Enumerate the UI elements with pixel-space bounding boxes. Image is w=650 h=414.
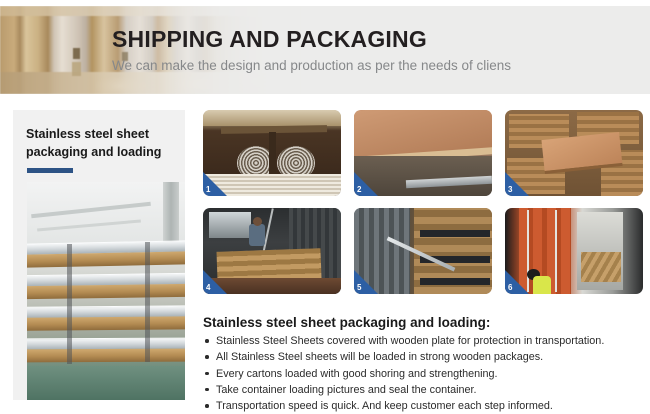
gallery-row: 4 5 6: [203, 208, 643, 294]
floor-decor: [0, 72, 300, 94]
list-item: Transportation speed is quick. And keep …: [203, 398, 643, 414]
list-item: All Stainless Steel sheets will be loade…: [203, 349, 643, 365]
thumb-number-label: 5: [357, 284, 361, 292]
strap-band: [145, 242, 150, 362]
rail-decor: [31, 202, 151, 219]
wooden-pallet: [27, 316, 185, 330]
steel-sheet-layer: [27, 273, 185, 299]
thumb-number-label: 2: [357, 186, 361, 194]
gallery-thumb-1[interactable]: 1: [203, 110, 341, 196]
page-header-banner: SHIPPING AND PACKAGING We can make the d…: [0, 6, 650, 94]
list-item: Take container loading pictures and seal…: [203, 382, 643, 398]
metal-plate: [27, 338, 185, 350]
gallery-thumb-6[interactable]: 6: [505, 208, 643, 294]
gallery-row: 1 2 3: [203, 110, 643, 196]
gallery-thumb-2[interactable]: 2: [354, 110, 492, 196]
strap-band-decor: [420, 278, 490, 285]
thumb-number-label: 1: [206, 186, 210, 194]
green-floor: [27, 366, 185, 400]
steel-sheet-layer: [27, 305, 185, 330]
strap-band: [67, 244, 72, 364]
wooden-pallet: [27, 251, 185, 268]
list-item: Stainless Steel Sheets covered with wood…: [203, 333, 643, 349]
safety-vest-icon: [533, 276, 551, 294]
wooden-pallet-decor: [217, 248, 322, 282]
worker-figure-icon: [249, 224, 265, 246]
page-subtitle: We can make the design and production as…: [112, 58, 511, 73]
wooden-pallet: [27, 349, 185, 363]
gallery-thumb-3[interactable]: 3: [505, 110, 643, 196]
info-bullet-list: Stainless Steel Sheets covered with wood…: [203, 333, 643, 414]
gallery-thumb-4[interactable]: 4: [203, 208, 341, 294]
door-locking-rod-decor: [555, 210, 557, 292]
info-heading: Stainless steel sheet packaging and load…: [203, 315, 643, 330]
thumb-number-label: 4: [206, 284, 210, 292]
steel-sheet-layer: [27, 240, 185, 268]
page-title: SHIPPING AND PACKAGING: [112, 26, 427, 53]
ceiling-decor: [0, 6, 300, 16]
worker-head-icon: [253, 217, 262, 226]
daylight-opening-decor: [209, 212, 251, 238]
packaging-photo-gallery: 1 2 3: [203, 110, 643, 306]
gallery-thumb-5[interactable]: 5: [354, 208, 492, 294]
accent-rule: [27, 168, 73, 173]
list-item: Every cartons loaded with good shoring a…: [203, 366, 643, 382]
rail-decor-secondary: [37, 219, 141, 231]
strap-band-decor: [420, 230, 490, 237]
wall-fixture-icon: [73, 48, 80, 59]
steel-sheet-stack-photo: [27, 182, 185, 400]
door-locking-rod-decor: [527, 210, 529, 292]
trash-bin-icon: [72, 62, 81, 76]
plank-decor: [203, 110, 341, 126]
feature-panel: Stainless steel sheet packaging and load…: [13, 110, 185, 400]
packaging-details-section: Stainless steel sheet packaging and load…: [203, 315, 643, 414]
loaded-cargo-decor: [581, 252, 621, 282]
steel-sheet-layer: [27, 338, 185, 363]
wooden-pallet: [27, 284, 185, 299]
feature-panel-title: Stainless steel sheet packaging and load…: [26, 126, 176, 162]
thumb-number-label: 6: [508, 284, 512, 292]
thumb-number-label: 3: [508, 186, 512, 194]
